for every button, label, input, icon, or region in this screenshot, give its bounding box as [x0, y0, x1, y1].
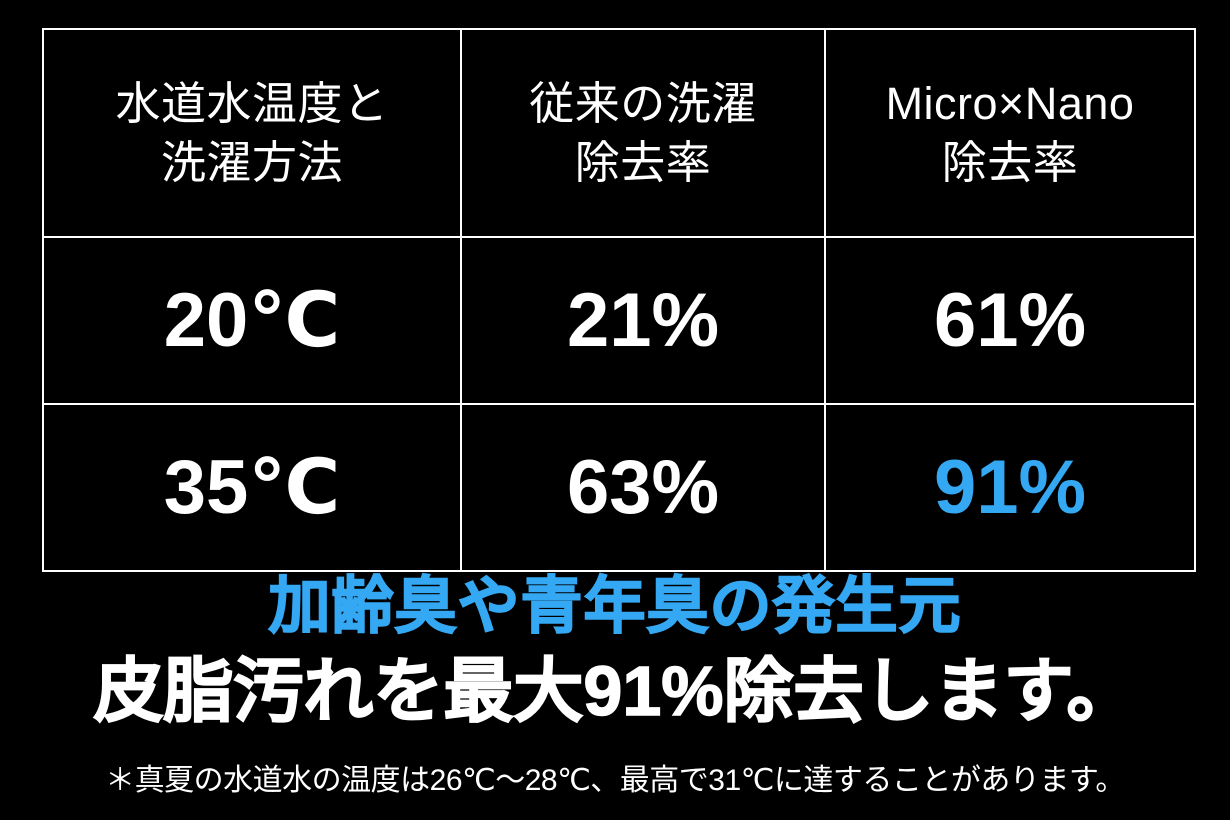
cell-micro-rate-20c: 61%: [825, 237, 1195, 404]
cell-temperature-35c: 35℃: [43, 404, 461, 571]
column-header-method: 水道水温度と 洗濯方法: [43, 29, 461, 237]
headline-primary: 加齢臭や青年臭の発生元: [0, 576, 1230, 638]
table-row: 20℃ 21% 61%: [43, 237, 1195, 404]
column-header-micro-line2: 除去率: [826, 133, 1194, 192]
headline-secondary: 皮脂汚れを最大91%除去します。: [0, 656, 1230, 726]
footnote-text: ＊真夏の水道水の温度は26℃〜28℃、最高で31℃に達することがあります。: [0, 762, 1230, 800]
cell-legacy-rate-20c: 21%: [461, 237, 825, 404]
cell-legacy-rate-35c: 63%: [461, 404, 825, 571]
column-header-method-line2: 洗濯方法: [44, 133, 460, 192]
table-body: 20℃ 21% 61% 35℃ 63% 91%: [43, 237, 1195, 571]
poster-root: 水道水温度と 洗濯方法 従来の洗濯 除去率 Micro×Nano 除去率 20℃…: [0, 0, 1230, 820]
cell-temperature-20c: 20℃: [43, 237, 461, 404]
column-header-legacy-line1: 従来の洗濯: [462, 74, 824, 133]
column-header-legacy: 従来の洗濯 除去率: [461, 29, 825, 237]
table-header-row: 水道水温度と 洗濯方法 従来の洗濯 除去率 Micro×Nano 除去率: [43, 29, 1195, 237]
column-header-method-line1: 水道水温度と: [44, 74, 460, 133]
table-row: 35℃ 63% 91%: [43, 404, 1195, 571]
table-header: 水道水温度と 洗濯方法 従来の洗濯 除去率 Micro×Nano 除去率: [43, 29, 1195, 237]
column-header-micro-line1: Micro×Nano: [826, 74, 1194, 133]
cell-micro-rate-35c: 91%: [825, 404, 1195, 571]
column-header-micro: Micro×Nano 除去率: [825, 29, 1195, 237]
column-header-legacy-line2: 除去率: [462, 133, 824, 192]
comparison-table: 水道水温度と 洗濯方法 従来の洗濯 除去率 Micro×Nano 除去率 20℃…: [42, 28, 1196, 572]
